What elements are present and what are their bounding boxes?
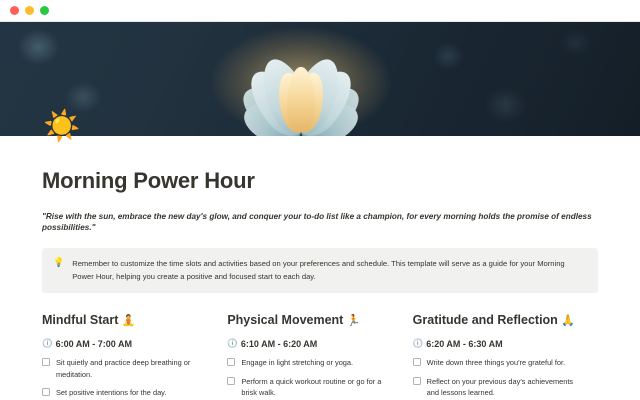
column-1: Mindful Start 🧘🕕6:00 AM - 7:00 AMSit qui… (42, 313, 227, 400)
checkbox-icon[interactable] (42, 388, 50, 396)
page-cover-image[interactable] (0, 22, 640, 136)
column-heading[interactable]: Physical Movement 🏃 (227, 313, 394, 327)
column-heading-label: Mindful Start (42, 313, 122, 327)
todo-label: Reflect on your previous day's achieveme… (427, 376, 580, 399)
page-quote[interactable]: "Rise with the sun, embrace the new day'… (42, 211, 598, 234)
todo-label: Engage in light stretching or yoga. (241, 357, 353, 368)
clock-emoji-icon: 🕕 (42, 339, 53, 349)
folded-hands-emoji: 🙏 (561, 314, 575, 327)
checkbox-icon[interactable] (227, 377, 235, 385)
column-3: Gratitude and Reflection 🙏🕕6:20 AM - 6:3… (413, 313, 598, 400)
column-2: Physical Movement 🏃🕕6:10 AM - 6:20 AMEng… (227, 313, 412, 400)
sun-emoji-icon[interactable]: ☀️ (43, 112, 80, 142)
callout-text: Remember to customize the time slots and… (72, 257, 587, 283)
time-slot-label: 6:20 AM - 6:30 AM (426, 339, 502, 349)
todo-item[interactable]: Perform a quick workout routine or go fo… (227, 376, 394, 399)
column-heading-label: Physical Movement (227, 313, 347, 327)
todo-label: Perform a quick workout routine or go fo… (241, 376, 394, 399)
checkbox-icon[interactable] (227, 358, 235, 366)
page-title[interactable]: Morning Power Hour (42, 168, 598, 194)
lotus-flower-illustration (176, 24, 426, 136)
time-slot[interactable]: 🕕6:20 AM - 6:30 AM (413, 339, 580, 349)
todo-item[interactable]: Engage in light stretching or yoga. (227, 357, 394, 368)
todo-label: Set positive intentions for the day. (56, 387, 166, 398)
minimize-window-button[interactable] (25, 6, 34, 15)
checkbox-icon[interactable] (42, 358, 50, 366)
person-running-emoji: 🏃 (347, 314, 361, 327)
app-window: ☀️ Morning Power Hour "Rise with the sun… (0, 0, 640, 400)
page-content: Morning Power Hour "Rise with the sun, e… (0, 168, 640, 400)
person-in-lotus-position-emoji: 🧘 (122, 314, 136, 327)
clock-emoji-icon: 🕕 (227, 339, 238, 349)
checkbox-icon[interactable] (413, 358, 421, 366)
column-list: Mindful Start 🧘🕕6:00 AM - 7:00 AMSit qui… (42, 313, 598, 400)
todo-item[interactable]: Reflect on your previous day's achieveme… (413, 376, 580, 399)
todo-item[interactable]: Write down three things you're grateful … (413, 357, 580, 368)
time-slot-label: 6:10 AM - 6:20 AM (241, 339, 317, 349)
todo-label: Sit quietly and practice deep breathing … (56, 357, 209, 380)
todo-item[interactable]: Set positive intentions for the day. (42, 387, 209, 398)
clock-emoji-icon: 🕕 (413, 339, 424, 349)
close-window-button[interactable] (10, 6, 19, 15)
time-slot[interactable]: 🕕6:00 AM - 7:00 AM (42, 339, 209, 349)
checkbox-icon[interactable] (413, 377, 421, 385)
window-titlebar (0, 0, 640, 22)
callout-block[interactable]: 💡 Remember to customize the time slots a… (42, 248, 598, 293)
todo-label: Write down three things you're grateful … (427, 357, 565, 368)
maximize-window-button[interactable] (40, 6, 49, 15)
lightbulb-icon: 💡 (53, 257, 64, 270)
todo-item[interactable]: Sit quietly and practice deep breathing … (42, 357, 209, 380)
time-slot-label: 6:00 AM - 7:00 AM (56, 339, 132, 349)
column-heading[interactable]: Mindful Start 🧘 (42, 313, 209, 327)
column-heading-label: Gratitude and Reflection (413, 313, 562, 327)
time-slot[interactable]: 🕕6:10 AM - 6:20 AM (227, 339, 394, 349)
column-heading[interactable]: Gratitude and Reflection 🙏 (413, 313, 580, 327)
